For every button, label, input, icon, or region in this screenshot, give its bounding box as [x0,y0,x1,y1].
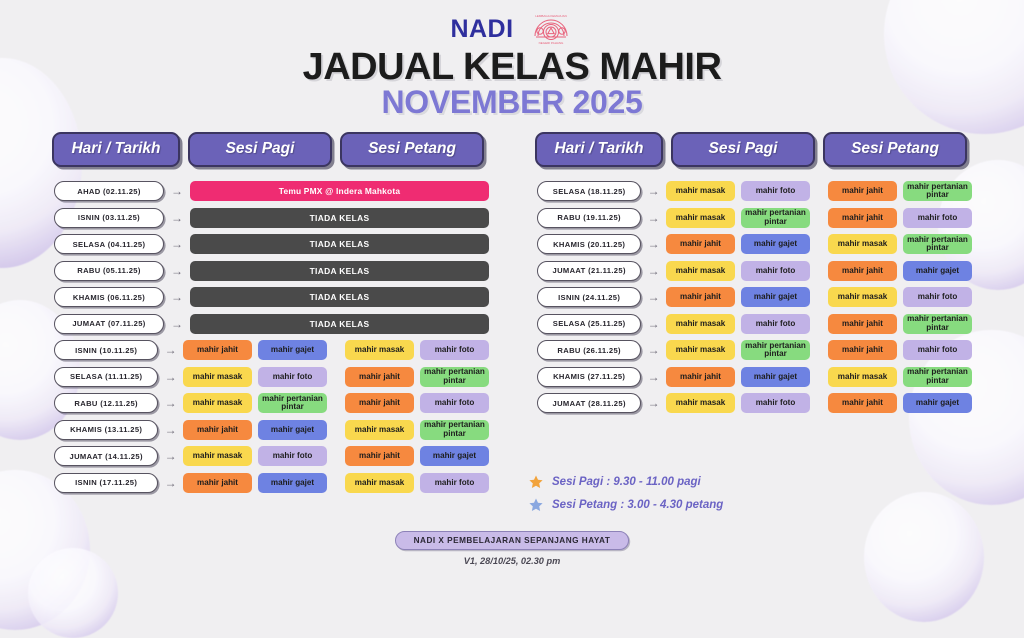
arrow-right-icon: → [641,344,666,356]
class-chip-morning: mahir gajet [741,367,810,387]
poster-canvas: NADI LEMBAGA KEMAJUAN NEGERI PAHANG [0,0,1024,576]
brand-row: NADI LEMBAGA KEMAJUAN NEGERI PAHANG [0,0,1024,46]
class-chip-evening: mahir jahit [828,393,897,413]
class-chip-evening: mahir masak [828,287,897,307]
column-header-evening: Sesi Petang [340,132,484,167]
day-date-pill: JUMAAT (28.11.25) [537,393,641,413]
arrow-right-icon: → [164,238,190,250]
day-date-pill: KHAMIS (27.11.25) [537,367,641,387]
class-chip-evening: mahir masak [828,234,897,254]
legend-label: Sesi Pagi : 9.30 - 11.00 pagi [552,476,701,488]
arrow-right-icon: → [158,477,183,489]
class-chip-morning: mahir foto [741,314,810,334]
legend-label: Sesi Petang : 3.00 - 4.30 petang [552,499,723,511]
class-chip-morning: mahir jahit [183,420,252,440]
column-gap [816,314,822,334]
page-title: JADUAL KELAS MAHIR [0,48,1024,87]
session-cells: mahir masakmahir fotomahir jahitmahir pe… [666,181,972,201]
event-banner: Temu PMX @ Indera Mahkota [190,181,489,201]
column-gap [816,261,822,281]
star-icon [528,497,544,513]
class-chip-morning: mahir jahit [183,340,252,360]
class-chip-morning: mahir masak [666,314,735,334]
table-row: AHAD (02.11.25)→Temu PMX @ Indera Mahkot… [52,178,489,205]
no-class-banner: TIADA KELAS [190,287,489,307]
class-chip-evening: mahir jahit [345,367,414,387]
table-row: RABU (19.11.25)→mahir masakmahir pertani… [535,205,972,232]
class-chip-evening: mahir jahit [828,181,897,201]
table-body-right: SELASA (18.11.25)→mahir masakmahir fotom… [535,178,972,417]
version-stamp: V1, 28/10/25, 02.30 pm [464,556,561,566]
class-chip-morning: mahir masak [183,446,252,466]
schedule-table-left: Hari / Tarikh Sesi Pagi Sesi Petang AHAD… [52,132,489,496]
class-chip-morning: mahir masak [183,393,252,413]
class-chip-evening: mahir jahit [345,393,414,413]
page-subtitle: NOVEMBER 2025 [0,86,1024,120]
class-chip-morning: mahir jahit [666,287,735,307]
arrow-right-icon: → [164,185,190,197]
class-chip-morning: mahir jahit [666,234,735,254]
column-gap [333,420,339,440]
day-date-pill: SELASA (18.11.25) [537,181,641,201]
day-date-pill: JUMAAT (21.11.25) [537,261,641,281]
day-date-pill: AHAD (02.11.25) [54,181,164,201]
class-chip-morning: mahir masak [666,340,735,360]
class-chip-evening: mahir jahit [828,261,897,281]
class-chip-evening: mahir foto [903,208,972,228]
class-chip-evening: mahir foto [420,393,489,413]
class-chip-morning: mahir foto [258,446,327,466]
svg-text:LEMBAGA KEMAJUAN: LEMBAGA KEMAJUAN [535,14,567,18]
class-chip-evening: mahir masak [345,340,414,360]
column-gap [816,367,822,387]
column-header-morning: Sesi Pagi [671,132,815,167]
class-chip-morning: mahir jahit [183,473,252,493]
footer: NADI X PEMBELAJARAN SEPANJANG HAYAT V1, … [0,531,1024,566]
star-icon [528,474,544,490]
table-row: SELASA (04.11.25)→TIADA KELAS [52,231,489,258]
arrow-right-icon: → [641,212,666,224]
column-gap [816,208,822,228]
column-header-day: Hari / Tarikh [52,132,180,167]
column-gap [333,473,339,493]
class-chip-morning: mahir gajet [258,473,327,493]
class-chip-evening: mahir gajet [903,261,972,281]
session-cells: mahir masakmahir fotomahir jahitmahir pe… [183,367,489,387]
table-row: JUMAAT (07.11.25)→TIADA KELAS [52,311,489,338]
session-cells: TIADA KELAS [190,208,489,228]
table-header-right: Hari / Tarikh Sesi Pagi Sesi Petang [535,132,972,167]
table-row: RABU (05.11.25)→TIADA KELAS [52,258,489,285]
column-gap [816,181,822,201]
column-header-evening: Sesi Petang [823,132,967,167]
table-row: KHAMIS (06.11.25)→TIADA KELAS [52,284,489,311]
session-cells: mahir masakmahir fotomahir jahitmahir ga… [666,393,972,413]
arrow-right-icon: → [158,424,183,436]
class-chip-morning: mahir pertanian pintar [741,208,810,228]
session-cells: Temu PMX @ Indera Mahkota [190,181,489,201]
table-row: ISNIN (17.11.25)→mahir jahitmahir gajetm… [52,470,489,497]
class-chip-morning: mahir pertanian pintar [258,393,327,413]
day-date-pill: ISNIN (17.11.25) [54,473,158,493]
class-chip-morning: mahir masak [666,261,735,281]
table-row: KHAMIS (20.11.25)→mahir jahitmahir gajet… [535,231,972,258]
class-chip-evening: mahir pertanian pintar [903,234,972,254]
class-chip-morning: mahir masak [666,208,735,228]
class-chip-evening: mahir foto [903,340,972,360]
class-chip-evening: mahir pertanian pintar [420,367,489,387]
column-gap [333,367,339,387]
day-date-pill: SELASA (04.11.25) [54,234,164,254]
class-chip-evening: mahir masak [345,420,414,440]
day-date-pill: ISNIN (10.11.25) [54,340,158,360]
class-chip-evening: mahir jahit [345,446,414,466]
table-row: JUMAAT (21.11.25)→mahir masakmahir fotom… [535,258,972,285]
table-row: KHAMIS (27.11.25)→mahir jahitmahir gajet… [535,364,972,391]
session-cells: mahir masakmahir pertanian pintarmahir j… [183,393,489,413]
session-cells: mahir jahitmahir gajetmahir masakmahir f… [183,340,489,360]
table-row: RABU (12.11.25)→mahir masakmahir pertani… [52,390,489,417]
day-date-pill: ISNIN (03.11.25) [54,208,164,228]
lembaga-kemajuan-logo-icon: LEMBAGA KEMAJUAN NEGERI PAHANG [528,6,574,52]
footer-tagline: NADI X PEMBELAJARAN SEPANJANG HAYAT [395,531,630,550]
class-chip-evening: mahir jahit [828,208,897,228]
column-gap [816,393,822,413]
no-class-banner: TIADA KELAS [190,261,489,281]
day-date-pill: RABU (26.11.25) [537,340,641,360]
class-chip-evening: mahir gajet [420,446,489,466]
class-chip-evening: mahir jahit [828,340,897,360]
day-date-pill: RABU (05.11.25) [54,261,164,281]
brand-nadi-logo: NADI [450,15,513,44]
session-cells: mahir masakmahir fotomahir jahitmahir ga… [183,446,489,466]
class-chip-morning: mahir gajet [258,420,327,440]
session-cells: TIADA KELAS [190,261,489,281]
class-chip-morning: mahir masak [666,393,735,413]
day-date-pill: RABU (19.11.25) [537,208,641,228]
session-cells: TIADA KELAS [190,314,489,334]
column-gap [333,340,339,360]
legend: Sesi Pagi : 9.30 - 11.00 pagiSesi Petang… [528,474,723,513]
table-row: JUMAAT (28.11.25)→mahir masakmahir fotom… [535,390,972,417]
schedule-tables: Hari / Tarikh Sesi Pagi Sesi Petang AHAD… [0,132,1024,496]
session-cells: mahir jahitmahir gajetmahir masakmahir p… [183,420,489,440]
session-cells: mahir jahitmahir gajetmahir masakmahir p… [666,234,972,254]
column-gap [333,446,339,466]
table-row: KHAMIS (13.11.25)→mahir jahitmahir gajet… [52,417,489,444]
table-row: RABU (26.11.25)→mahir masakmahir pertani… [535,337,972,364]
session-cells: TIADA KELAS [190,234,489,254]
no-class-banner: TIADA KELAS [190,208,489,228]
day-date-pill: JUMAAT (07.11.25) [54,314,164,334]
arrow-right-icon: → [158,371,183,383]
schedule-table-right: Hari / Tarikh Sesi Pagi Sesi Petang SELA… [535,132,972,496]
day-date-pill: ISNIN (24.11.25) [537,287,641,307]
table-row: JUMAAT (14.11.25)→mahir masakmahir fotom… [52,443,489,470]
session-cells: mahir masakmahir fotomahir jahitmahir pe… [666,314,972,334]
class-chip-morning: mahir gajet [741,234,810,254]
session-cells: mahir masakmahir pertanian pintarmahir j… [666,340,972,360]
class-chip-evening: mahir gajet [903,393,972,413]
class-chip-evening: mahir pertanian pintar [903,314,972,334]
arrow-right-icon: → [164,212,190,224]
session-cells: mahir jahitmahir gajetmahir masakmahir f… [666,287,972,307]
class-chip-evening: mahir masak [345,473,414,493]
table-header-left: Hari / Tarikh Sesi Pagi Sesi Petang [52,132,489,167]
arrow-right-icon: → [164,265,190,277]
arrow-right-icon: → [641,318,666,330]
day-date-pill: KHAMIS (13.11.25) [54,420,158,440]
legend-item: Sesi Pagi : 9.30 - 11.00 pagi [528,474,723,490]
session-cells: mahir masakmahir fotomahir jahitmahir ga… [666,261,972,281]
class-chip-morning: mahir foto [741,393,810,413]
class-chip-morning: mahir pertanian pintar [741,340,810,360]
class-chip-morning: mahir foto [741,181,810,201]
class-chip-morning: mahir foto [741,261,810,281]
class-chip-evening: mahir masak [828,367,897,387]
session-cells: TIADA KELAS [190,287,489,307]
class-chip-morning: mahir gajet [258,340,327,360]
class-chip-evening: mahir foto [420,473,489,493]
table-row: SELASA (25.11.25)→mahir masakmahir fotom… [535,311,972,338]
class-chip-evening: mahir pertanian pintar [903,181,972,201]
table-row: SELASA (18.11.25)→mahir masakmahir fotom… [535,178,972,205]
column-header-day: Hari / Tarikh [535,132,663,167]
arrow-right-icon: → [641,371,666,383]
svg-text:NEGERI PAHANG: NEGERI PAHANG [538,41,563,45]
class-chip-evening: mahir jahit [828,314,897,334]
arrow-right-icon: → [641,238,666,250]
day-date-pill: KHAMIS (06.11.25) [54,287,164,307]
no-class-banner: TIADA KELAS [190,234,489,254]
arrow-right-icon: → [164,318,190,330]
class-chip-morning: mahir masak [183,367,252,387]
arrow-right-icon: → [641,291,666,303]
class-chip-morning: mahir masak [666,181,735,201]
arrow-right-icon: → [164,291,190,303]
day-date-pill: SELASA (11.11.25) [54,367,158,387]
column-gap [816,234,822,254]
class-chip-evening: mahir foto [420,340,489,360]
column-gap [816,287,822,307]
table-row: SELASA (11.11.25)→mahir masakmahir fotom… [52,364,489,391]
legend-item: Sesi Petang : 3.00 - 4.30 petang [528,497,723,513]
arrow-right-icon: → [641,185,666,197]
table-row: ISNIN (24.11.25)→mahir jahitmahir gajetm… [535,284,972,311]
arrow-right-icon: → [641,397,666,409]
day-date-pill: RABU (12.11.25) [54,393,158,413]
class-chip-evening: mahir foto [903,287,972,307]
class-chip-morning: mahir jahit [666,367,735,387]
day-date-pill: KHAMIS (20.11.25) [537,234,641,254]
column-header-morning: Sesi Pagi [188,132,332,167]
arrow-right-icon: → [158,450,183,462]
day-date-pill: SELASA (25.11.25) [537,314,641,334]
arrow-right-icon: → [158,344,183,356]
arrow-right-icon: → [158,397,183,409]
arrow-right-icon: → [641,265,666,277]
class-chip-evening: mahir pertanian pintar [420,420,489,440]
table-body-left: AHAD (02.11.25)→Temu PMX @ Indera Mahkot… [52,178,489,496]
class-chip-morning: mahir foto [258,367,327,387]
table-row: ISNIN (03.11.25)→TIADA KELAS [52,205,489,232]
no-class-banner: TIADA KELAS [190,314,489,334]
session-cells: mahir masakmahir pertanian pintarmahir j… [666,208,972,228]
session-cells: mahir jahitmahir gajetmahir masakmahir p… [666,367,972,387]
column-gap [333,393,339,413]
column-gap [816,340,822,360]
class-chip-evening: mahir pertanian pintar [903,367,972,387]
table-row: ISNIN (10.11.25)→mahir jahitmahir gajetm… [52,337,489,364]
day-date-pill: JUMAAT (14.11.25) [54,446,158,466]
class-chip-morning: mahir gajet [741,287,810,307]
session-cells: mahir jahitmahir gajetmahir masakmahir f… [183,473,489,493]
